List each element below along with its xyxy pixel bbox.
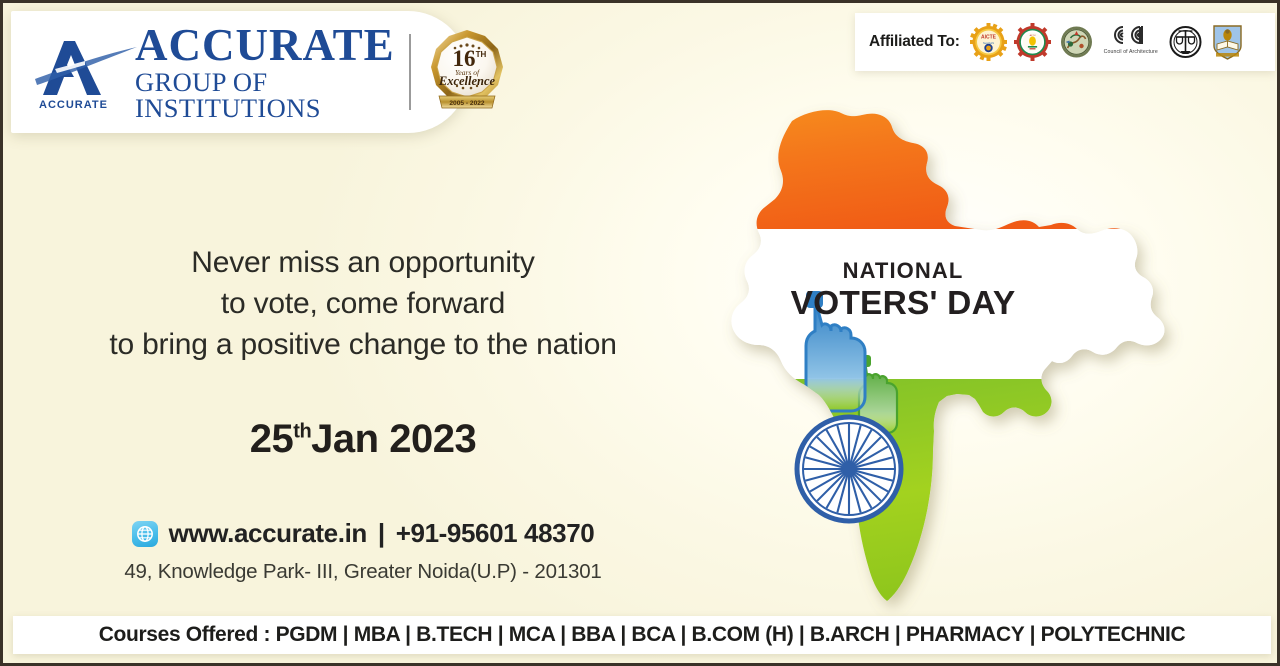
courses-offered-text: Courses Offered : PGDM | MBA | B.TECH | … — [99, 623, 1186, 647]
event-date-ordinal: th — [293, 421, 311, 443]
badge-excellence: Excellence — [438, 74, 496, 88]
contact-separator: | — [378, 518, 385, 549]
council-of-architecture-caption: Council of Architecture — [1102, 49, 1160, 55]
message-line-1: Never miss an opportunity — [43, 243, 683, 284]
event-date-day: 25 — [250, 417, 294, 461]
affiliations-panel: Affiliated To: — [855, 13, 1275, 71]
aktu-logo: AKTU — [1014, 22, 1051, 62]
institution-name-secondary: GROUP OF INSTITUTIONS — [135, 69, 395, 122]
anniversary-badge: 16 TH Years of Excellence 2005 - 2022 — [423, 26, 511, 118]
logo-mark-word: ACCURATE — [39, 99, 108, 111]
message-block: Never miss an opportunity to vote, come … — [43, 243, 683, 462]
phone-number[interactable]: +91-95601 48370 — [396, 518, 595, 549]
pharmacy-council-logo — [1058, 22, 1095, 62]
university-shield-logo — [1211, 22, 1248, 62]
svg-text:AICTE: AICTE — [981, 35, 997, 41]
india-map-artwork — [689, 99, 1199, 619]
globe-icon — [132, 521, 158, 547]
institution-name: ACCURATE GROUP OF INSTITUTIONS — [135, 23, 395, 122]
badge-ordinal: TH — [475, 50, 486, 59]
address-line: 49, Knowledge Park- III, Greater Noida(U… — [43, 560, 683, 584]
accurate-a-mark-icon: ACCURATE — [33, 35, 141, 109]
institution-name-primary: ACCURATE — [135, 23, 395, 68]
ashoka-chakra-icon — [797, 417, 901, 521]
logo-divider — [409, 34, 411, 110]
event-date-rest: Jan 2023 — [311, 417, 476, 461]
message-line-2: to vote, come forward — [43, 284, 683, 325]
bar-council-logo — [1167, 22, 1204, 62]
council-of-architecture-logo: Council of Architecture — [1102, 22, 1160, 62]
contact-primary-line: www.accurate.in | +91-95601 48370 — [43, 518, 683, 549]
affiliations-label: Affiliated To: — [869, 33, 960, 51]
svg-text:AKTU: AKTU — [1029, 34, 1035, 37]
website-link[interactable]: www.accurate.in — [169, 518, 367, 549]
aicte-logo: AICTE New Delhi — [970, 22, 1007, 62]
contact-block: www.accurate.in | +91-95601 48370 49, Kn… — [43, 518, 683, 584]
affiliation-logo-list: AICTE New Delhi — [970, 22, 1248, 62]
event-date: 25thJan 2023 — [43, 417, 683, 462]
voters-day-banner: ACCURATE ACCURATE GROUP OF INSTITUTIONS — [0, 0, 1280, 666]
courses-offered-bar: Courses Offered : PGDM | MBA | B.TECH | … — [13, 616, 1271, 654]
message-line-3: to bring a positive change to the nation — [43, 325, 683, 366]
institution-logo-panel: ACCURATE ACCURATE GROUP OF INSTITUTIONS — [11, 11, 469, 133]
badge-range: 2005 - 2022 — [449, 100, 485, 107]
